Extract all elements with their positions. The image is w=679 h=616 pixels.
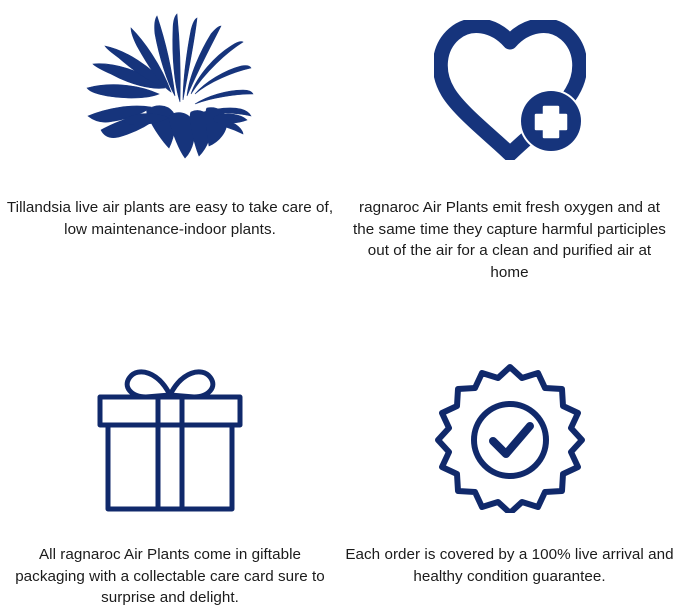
feature-text: All ragnaroc Air Plants come in giftable… <box>4 513 336 609</box>
feature-cell-air-plant: Tillandsia live air plants are easy to t… <box>0 0 340 308</box>
feature-text: ragnaroc Air Plants emit fresh oxygen an… <box>347 160 672 283</box>
feature-grid: Tillandsia live air plants are easy to t… <box>0 0 679 616</box>
gift-box-icon <box>88 308 252 513</box>
feature-cell-gift-packaging: All ragnaroc Air Plants come in giftable… <box>0 308 340 616</box>
air-plant-icon <box>85 0 255 160</box>
heart-plus-icon <box>434 0 586 160</box>
feature-text: Each order is covered by a 100% live arr… <box>345 513 675 587</box>
guarantee-badge-icon <box>435 308 585 513</box>
feature-cell-oxygen: ragnaroc Air Plants emit fresh oxygen an… <box>340 0 679 308</box>
feature-text: Tillandsia live air plants are easy to t… <box>5 160 335 240</box>
feature-cell-guarantee: Each order is covered by a 100% live arr… <box>340 308 679 616</box>
